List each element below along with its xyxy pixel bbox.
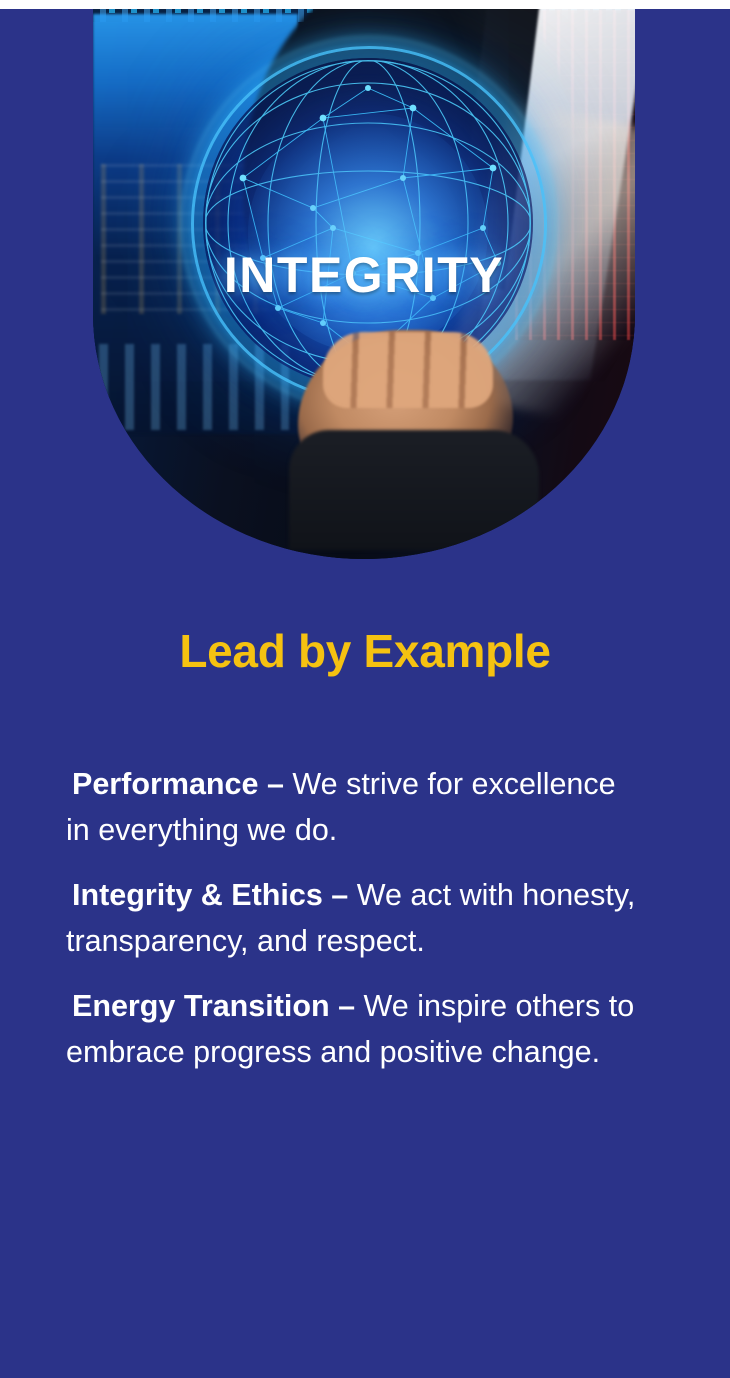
integrity-overlay-text: INTEGRITY xyxy=(93,246,635,304)
hero-image-mask: INTEGRITY xyxy=(93,9,635,559)
slide-page: INTEGRITY Lead by Example Performance – … xyxy=(0,0,730,1378)
slide-content-area: INTEGRITY Lead by Example Performance – … xyxy=(0,9,730,1378)
values-list: Performance – We strive for excellence i… xyxy=(66,761,636,1075)
list-item: Energy Transition – We inspire others to… xyxy=(66,983,636,1075)
value-dash: – xyxy=(330,989,364,1023)
hand-fingers xyxy=(323,332,493,408)
value-term: Integrity & Ethics xyxy=(72,878,323,912)
list-item: Integrity & Ethics – We act with honesty… xyxy=(66,872,636,964)
page-title: Lead by Example xyxy=(0,626,730,677)
list-item: Performance – We strive for excellence i… xyxy=(66,761,636,853)
value-term: Performance xyxy=(72,767,258,801)
hero-image-container: INTEGRITY xyxy=(93,9,635,559)
value-term: Energy Transition xyxy=(72,989,330,1023)
value-dash: – xyxy=(258,767,292,801)
value-dash: – xyxy=(323,878,357,912)
shirt-cuff-sleeve xyxy=(289,430,539,550)
